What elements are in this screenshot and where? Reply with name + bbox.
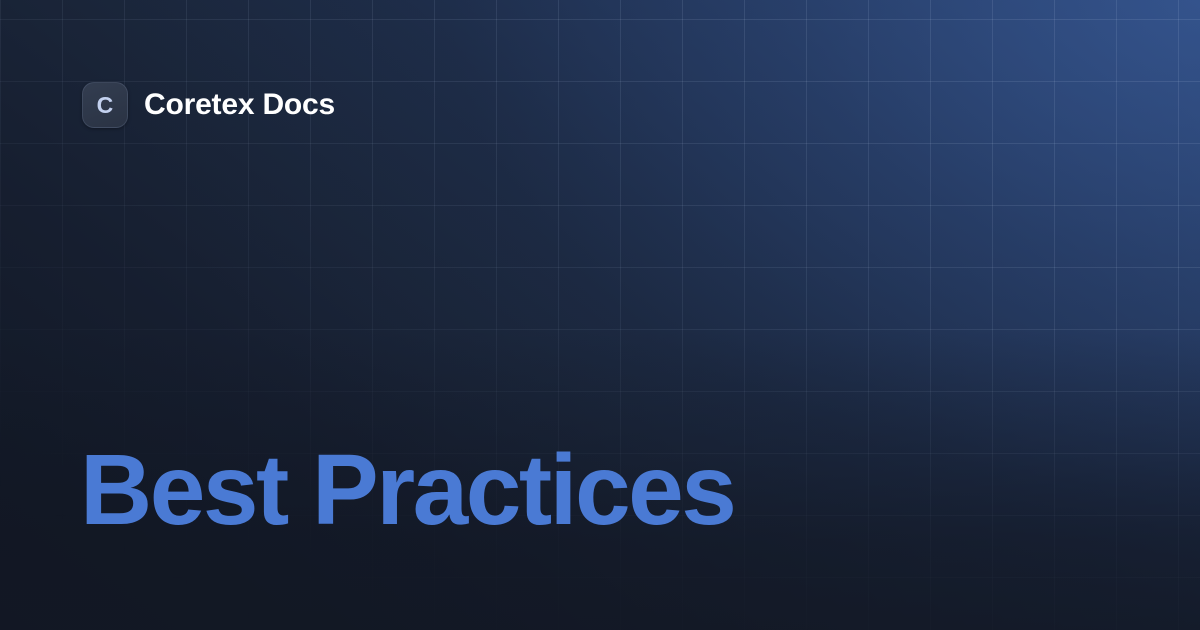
brand-name-label: Coretex Docs (144, 90, 335, 120)
coretex-logo-icon: C (82, 82, 128, 128)
og-banner: C Coretex Docs Best Practices (0, 0, 1200, 630)
logo-letter: C (97, 94, 114, 117)
page-title: Best Practices (80, 440, 734, 540)
brand-header[interactable]: C Coretex Docs (82, 82, 335, 128)
